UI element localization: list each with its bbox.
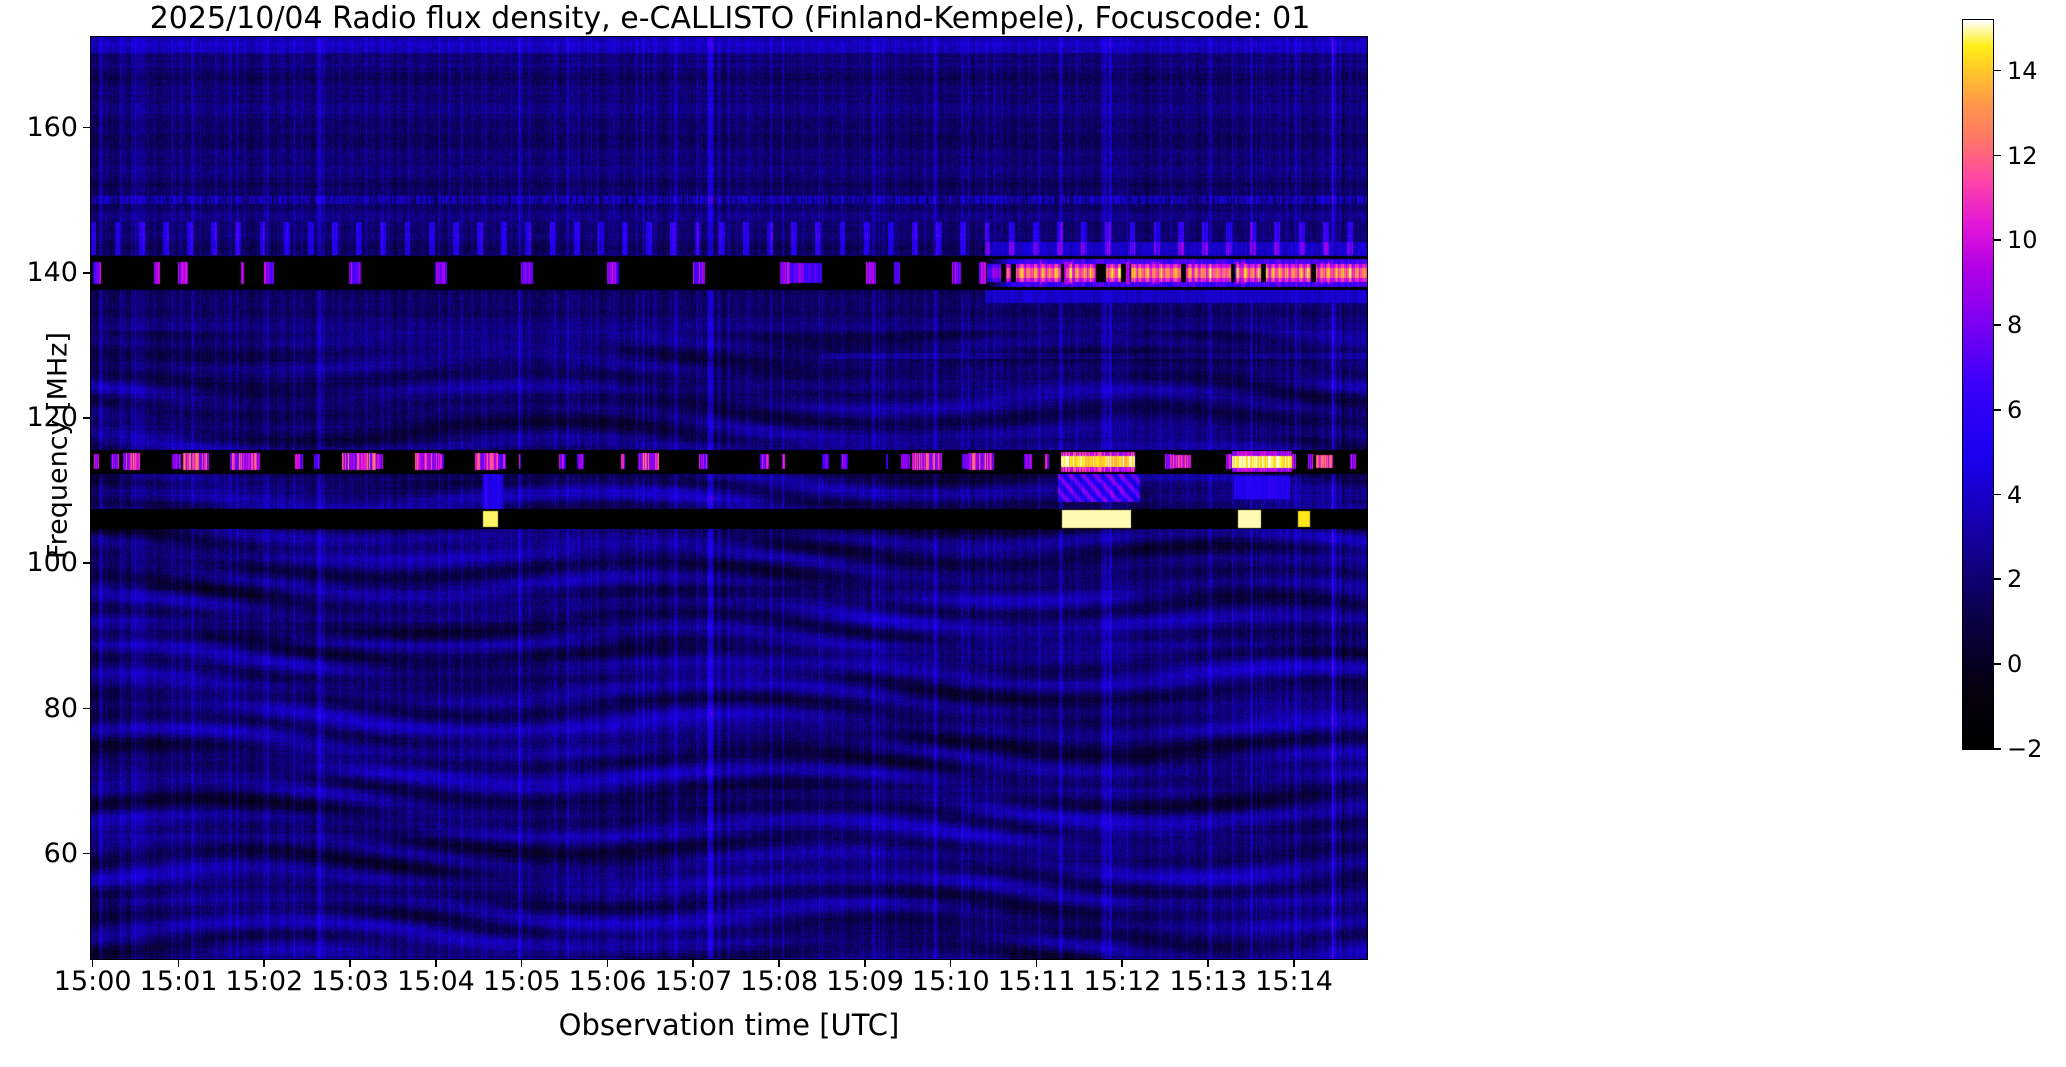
y-tick-label: 100: [0, 549, 78, 576]
colorbar-tick-label: 14: [2007, 59, 2066, 83]
y-tick-mark: [83, 127, 90, 129]
colorbar-tick-mark: [1994, 155, 2001, 157]
x-tick-mark: [1207, 960, 1209, 967]
colorbar-tick-mark: [1994, 324, 2001, 326]
y-tick-mark: [83, 562, 90, 564]
x-tick-mark: [263, 960, 265, 967]
y-tick-label: 160: [0, 114, 78, 141]
colorbar: [1962, 19, 1994, 750]
colorbar-tick-mark: [1994, 494, 2001, 496]
x-tick-mark: [349, 960, 351, 967]
colorbar-tick-mark: [1994, 748, 2001, 750]
x-tick-mark: [778, 960, 780, 967]
colorbar-gradient: [1963, 20, 1993, 749]
colorbar-tick-label: 12: [2007, 144, 2066, 168]
y-tick-label: 80: [0, 695, 78, 722]
page-title: 2025/10/04 Radio flux density, e-CALLIST…: [90, 2, 1370, 36]
y-tick-label: 140: [0, 259, 78, 286]
colorbar-tick-mark: [1994, 409, 2001, 411]
colorbar-tick-label: 2: [2007, 567, 2066, 591]
x-tick-mark: [1293, 960, 1295, 967]
x-tick-mark: [607, 960, 609, 967]
x-tick-mark: [1036, 960, 1038, 967]
x-tick-mark: [92, 960, 94, 967]
colorbar-tick-mark: [1994, 578, 2001, 580]
x-axis-label: Observation time [UTC]: [90, 1008, 1368, 1042]
colorbar-tick-label: 10: [2007, 228, 2066, 252]
y-axis-label: Frequency [MHz]: [43, 236, 74, 656]
x-tick-mark: [521, 960, 523, 967]
spectrogram-figure: 2025/10/04 Radio flux density, e-CALLIST…: [0, 0, 2066, 1067]
spectrogram-axes: [90, 36, 1368, 960]
colorbar-tick-label: 4: [2007, 483, 2066, 507]
x-tick-mark: [435, 960, 437, 967]
y-tick-mark: [83, 708, 90, 710]
x-tick-mark: [1121, 960, 1123, 967]
colorbar-tick-label: 8: [2007, 313, 2066, 337]
colorbar-tick-label: −2: [2007, 737, 2066, 761]
y-tick-mark: [83, 272, 90, 274]
colorbar-tick-label: 6: [2007, 398, 2066, 422]
x-tick-label: 15:14: [1214, 968, 1374, 996]
x-tick-mark: [178, 960, 180, 967]
x-tick-mark: [864, 960, 866, 967]
y-tick-label: 120: [0, 404, 78, 431]
x-tick-mark: [692, 960, 694, 967]
spectrogram-image: [91, 37, 1367, 959]
x-tick-mark: [950, 960, 952, 967]
y-tick-mark: [83, 853, 90, 855]
colorbar-tick-mark: [1994, 663, 2001, 665]
y-tick-label: 60: [0, 840, 78, 867]
colorbar-tick-mark: [1994, 70, 2001, 72]
colorbar-tick-label: 0: [2007, 652, 2066, 676]
y-tick-mark: [83, 417, 90, 419]
colorbar-tick-mark: [1994, 239, 2001, 241]
